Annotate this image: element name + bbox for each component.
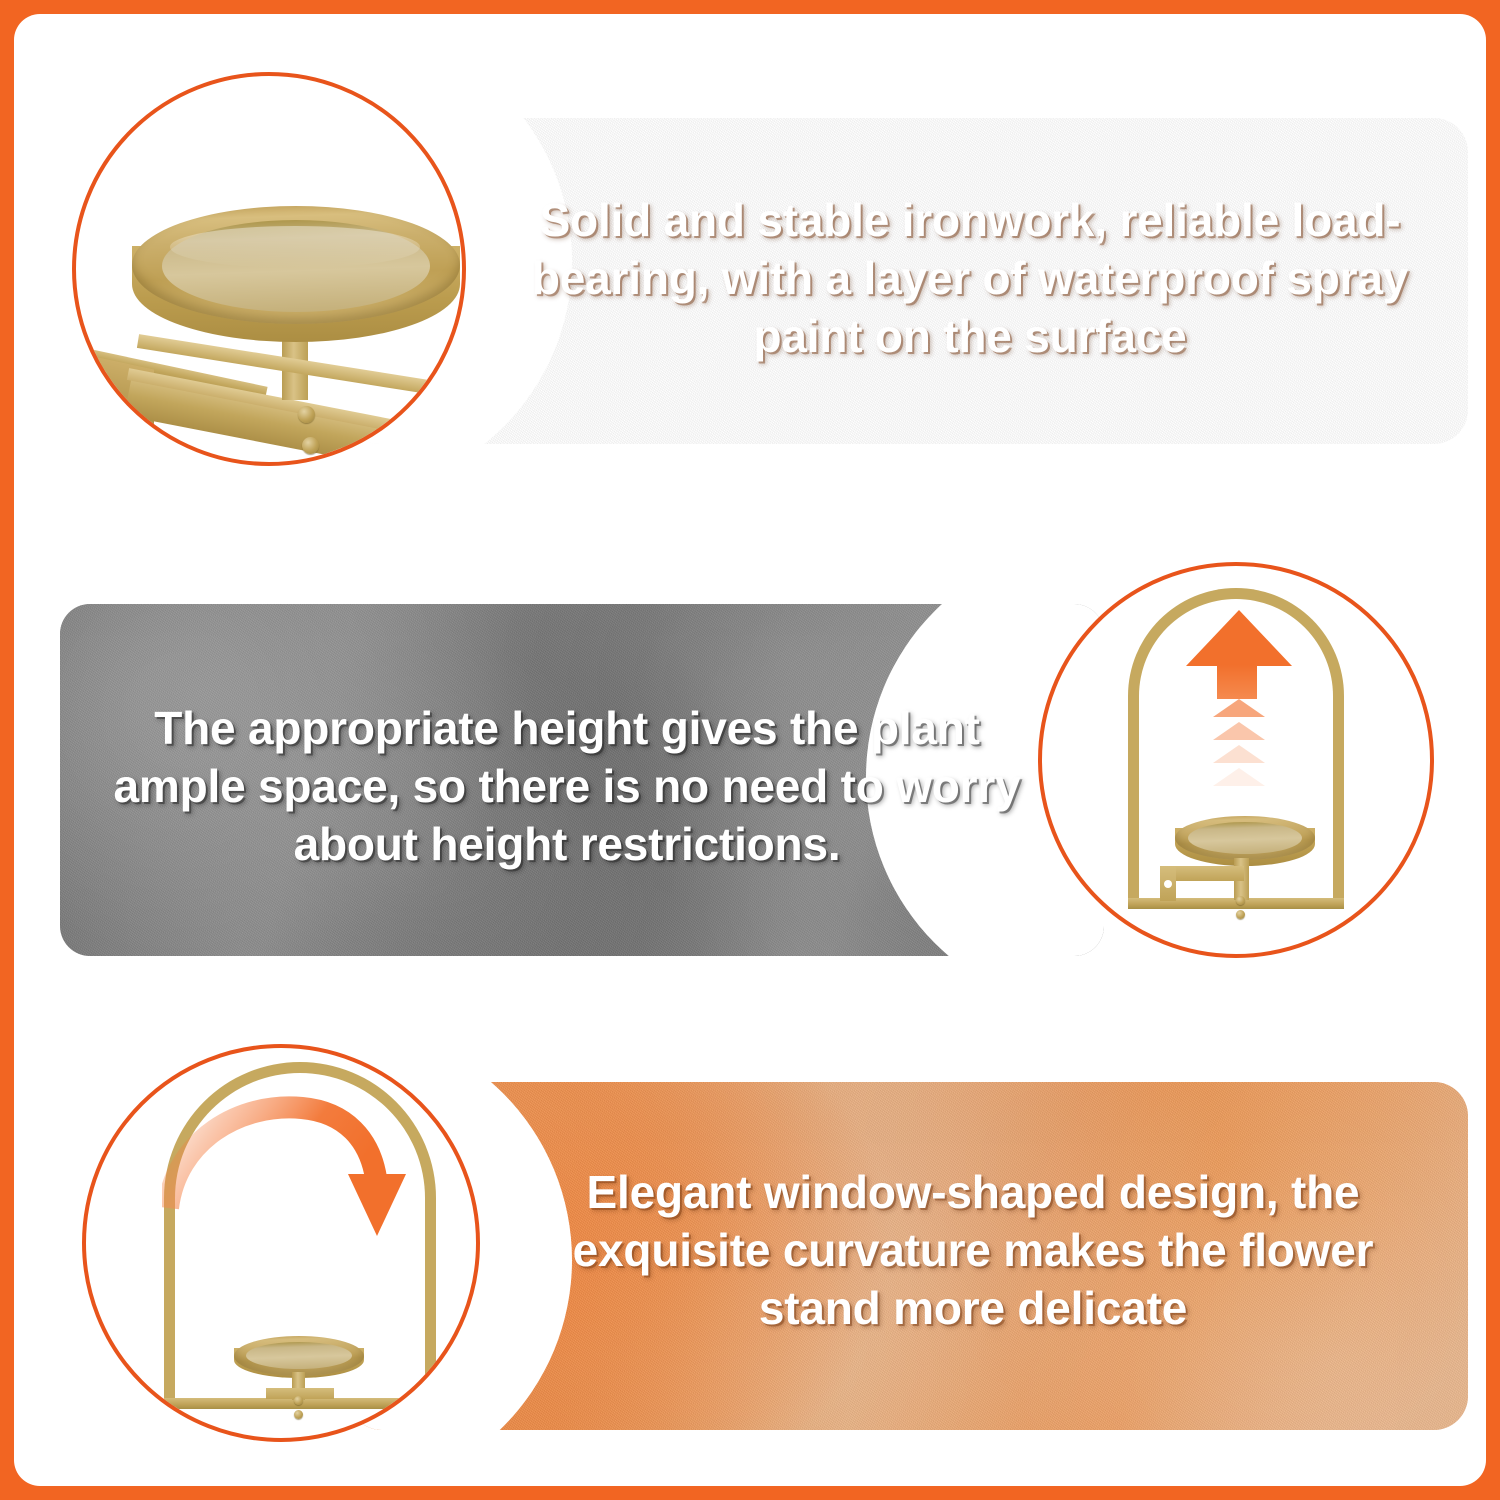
tray-inner-well xyxy=(246,1342,352,1369)
arrow-chevron-4 xyxy=(1213,768,1265,786)
feature-text-2: The appropriate height gives the plant a… xyxy=(102,700,1032,874)
photo-3-content xyxy=(86,1048,476,1438)
rivet-upper xyxy=(1236,896,1245,905)
curved-arrow-icon xyxy=(162,1096,432,1276)
infographic-page: Solid and stable ironwork, reliable load… xyxy=(0,0,1500,1500)
gold-tray-detail-photo xyxy=(72,72,466,466)
photo-1-content xyxy=(76,76,462,462)
tray-highlight xyxy=(170,226,420,268)
tray-inner-well xyxy=(1188,822,1302,854)
photo-2-content xyxy=(1042,566,1430,954)
feature-banner-3: Elegant window-shaped design, the exquis… xyxy=(348,1082,1468,1430)
feature-text-3: Elegant window-shaped design, the exquis… xyxy=(508,1164,1438,1338)
feature-banner-2: The appropriate height gives the plant a… xyxy=(60,604,1104,956)
rivet-lower xyxy=(302,437,319,454)
arch-curvature-photo xyxy=(82,1044,480,1442)
infographic-canvas: Solid and stable ironwork, reliable load… xyxy=(14,14,1486,1486)
arrow-chevron-2 xyxy=(1213,722,1265,740)
rivet-lower xyxy=(294,1410,303,1419)
bracket-screw-hole xyxy=(1164,880,1172,888)
feature-banner-1: Solid and stable ironwork, reliable load… xyxy=(346,118,1468,444)
arch-stand-height-photo xyxy=(1038,562,1434,958)
rivet-lower xyxy=(1236,910,1245,919)
arrow-up-icon xyxy=(1186,610,1292,666)
arrow-up-shaft xyxy=(1217,665,1257,699)
arrow-chevron-1 xyxy=(1213,699,1265,717)
feature-text-1: Solid and stable ironwork, reliable load… xyxy=(514,192,1426,366)
rail-screw-hole xyxy=(94,376,103,390)
arrow-chevron-3 xyxy=(1213,745,1265,763)
rivet-upper xyxy=(298,406,315,423)
rivet-upper xyxy=(294,1396,303,1405)
